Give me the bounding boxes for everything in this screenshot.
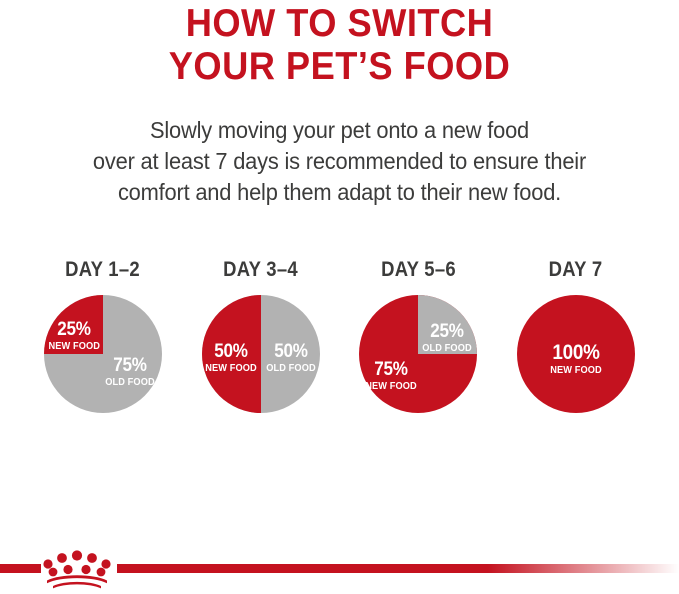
pie-cell-day-1-2: DAY 1–2 25% NEW FOOD 75% OLD FOOD — [28, 258, 178, 433]
pie-chart-4: 100% NEW FOOD — [516, 294, 636, 414]
pie-slice-old-food-3 — [418, 295, 477, 354]
pie-slice-new-food-1 — [44, 295, 103, 354]
pie-chart-1: 25% NEW FOOD 75% OLD FOOD — [43, 294, 163, 414]
intro-line-2: over at least 7 days is recommended to e… — [17, 146, 662, 177]
pie-svg-3 — [358, 294, 478, 414]
intro-line-1: Slowly moving your pet onto a new food — [17, 115, 662, 146]
pie-slice-new-food-4 — [517, 295, 635, 413]
page-title: HOW TO SWITCH YOUR PET’S FOOD — [0, 2, 679, 88]
royal-canin-crown-icon — [40, 545, 114, 589]
infographic-root: HOW TO SWITCH YOUR PET’S FOOD Slowly mov… — [0, 0, 679, 594]
day-label-4: DAY 7 — [549, 258, 603, 282]
footer-rule-left — [0, 564, 41, 573]
title-line-2: YOUR PET’S FOOD — [24, 45, 655, 88]
day-label-1: DAY 1–2 — [66, 258, 141, 282]
day-label-3: DAY 5–6 — [381, 258, 456, 282]
footer-brand-bar — [0, 540, 679, 594]
footer-rule-right — [117, 564, 679, 573]
pie-cell-day-5-6: DAY 5–6 75% NEW FOOD 25% OLD FOOD — [343, 258, 493, 433]
pie-svg-1 — [43, 294, 163, 414]
title-line-1: HOW TO SWITCH — [24, 2, 655, 45]
pie-svg-4 — [516, 294, 636, 414]
pie-cell-day-7: DAY 7 100% NEW FOOD — [501, 258, 651, 433]
pie-chart-3: 75% NEW FOOD 25% OLD FOOD — [358, 294, 478, 414]
pie-slice-new-food-2 — [202, 295, 261, 413]
pie-chart-row: DAY 1–2 25% NEW FOOD 75% OLD FOOD DAY 3–… — [0, 258, 679, 433]
pie-chart-2: 50% NEW FOOD 50% OLD FOOD — [201, 294, 321, 414]
intro-line-3: comfort and help them adapt to their new… — [17, 177, 662, 208]
day-label-2: DAY 3–4 — [223, 258, 298, 282]
pie-cell-day-3-4: DAY 3–4 50% NEW FOOD 50% OLD FOOD — [186, 258, 336, 433]
pie-svg-2 — [201, 294, 321, 414]
intro-paragraph: Slowly moving your pet onto a new food o… — [0, 115, 679, 208]
